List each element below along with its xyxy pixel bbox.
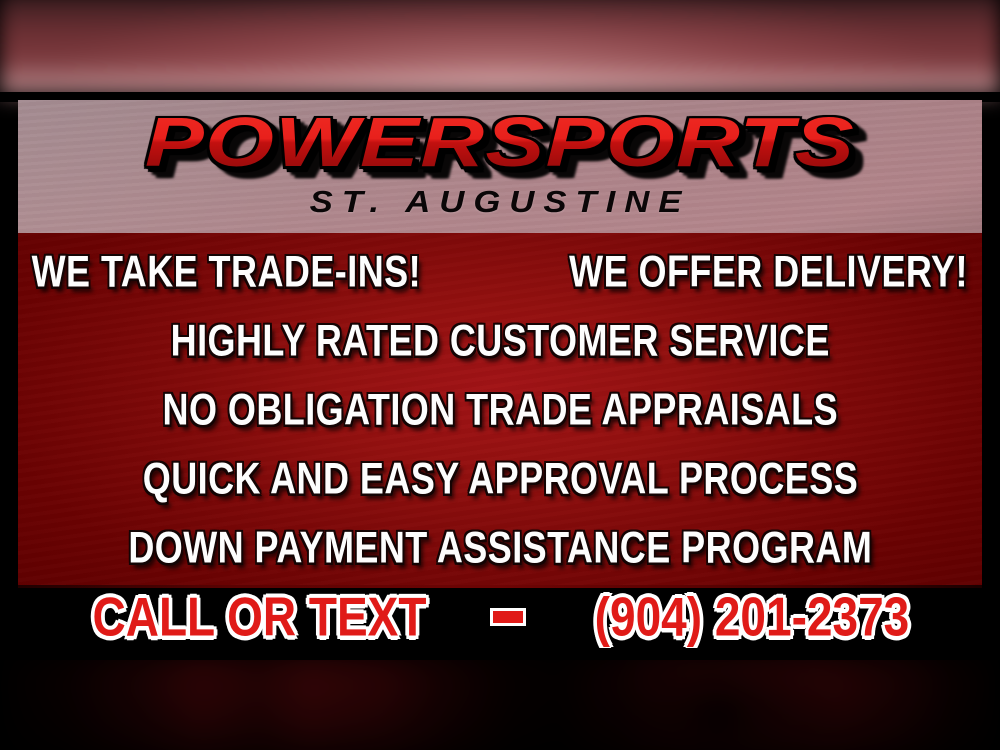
feature-text-delivery: WE OFFER DELIVERY! [569, 249, 968, 294]
feature-row: WE TAKE TRADE-INS! WE OFFER DELIVERY! [18, 237, 982, 306]
feature-text-customer-service: HIGHLY RATED CUSTOMER SERVICE [170, 318, 829, 363]
brand-wordmark: POWERSPORTS [18, 108, 982, 177]
feature-row: QUICK AND EASY APPROVAL PROCESS [18, 445, 982, 514]
feature-row: HIGHLY RATED CUSTOMER SERVICE [18, 306, 982, 375]
background-blur-bottom [0, 652, 1000, 750]
feature-row: NO OBLIGATION TRADE APPRAISALS [18, 375, 982, 444]
feature-text-down-payment-assistance: DOWN PAYMENT ASSISTANCE PROGRAM [128, 526, 872, 571]
feature-text-approval-process: QUICK AND EASY APPROVAL PROCESS [142, 457, 857, 502]
feature-text-trade-appraisals: NO OBLIGATION TRADE APPRAISALS [162, 388, 838, 433]
cta-separator-dash [493, 611, 523, 623]
advertisement-banner: POWERSPORTS ST. AUGUSTINE WE TAKE TRADE-… [0, 0, 1000, 750]
frame-divider-bottom [0, 648, 1000, 660]
feature-list: WE TAKE TRADE-INS! WE OFFER DELIVERY! HI… [18, 233, 982, 585]
cta-phone-number[interactable]: (904) 201-2373 [594, 589, 909, 644]
feature-text-trade-ins: WE TAKE TRADE-INS! [32, 249, 421, 294]
ad-card: POWERSPORTS ST. AUGUSTINE WE TAKE TRADE-… [18, 100, 982, 648]
brand-header: POWERSPORTS ST. AUGUSTINE [18, 100, 982, 233]
brand-location-subtitle: ST. AUGUSTINE [18, 184, 982, 220]
call-to-action-bar: CALL OR TEXT (904) 201-2373 [18, 585, 982, 648]
background-blur-top [0, 0, 1000, 98]
cta-action-label: CALL OR TEXT [92, 589, 426, 644]
feature-row: DOWN PAYMENT ASSISTANCE PROGRAM [18, 514, 982, 583]
